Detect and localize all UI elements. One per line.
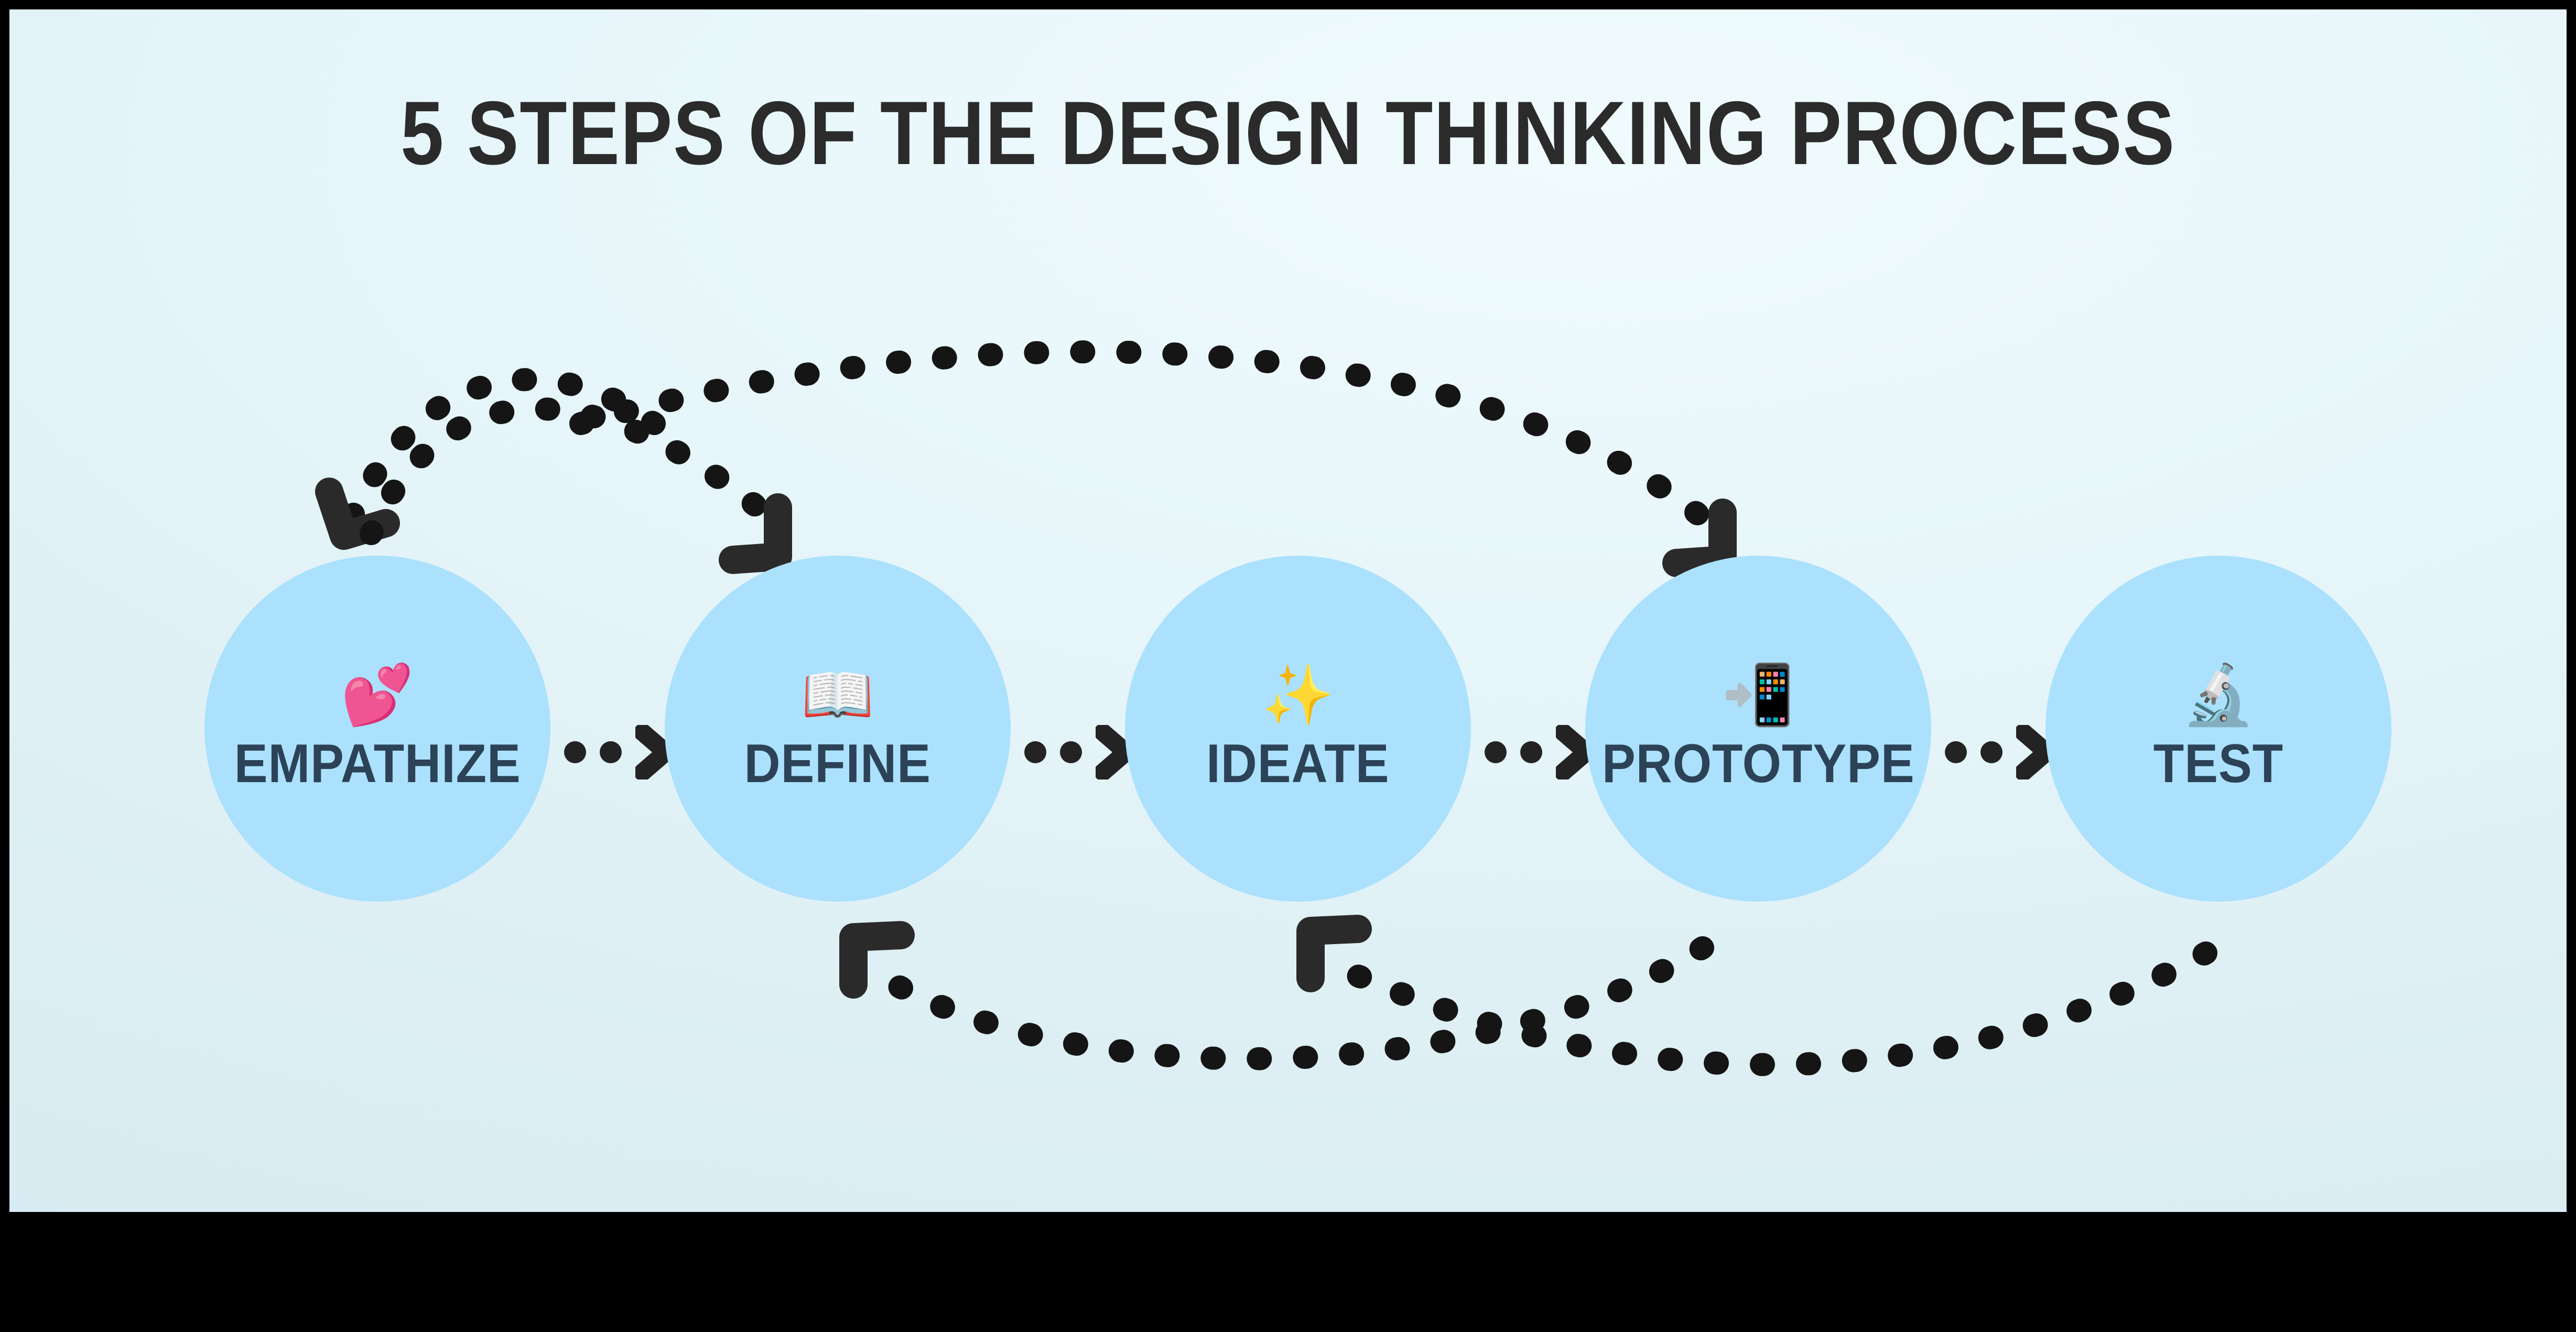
step-label-prototype: PROTOTYPE — [1602, 733, 1915, 795]
step-circle-define[interactable]: 📖 DEFINE — [665, 556, 1011, 902]
step-circle-ideate[interactable]: ✨ IDEATE — [1125, 556, 1471, 902]
arc-arrowhead-ideate-bottom — [1311, 929, 1358, 978]
connector-dot — [1945, 741, 1967, 763]
slide-canvas: 5 STEPS OF THE DESIGN THINKING PROCESS .… — [9, 9, 2567, 1212]
arc-ideate-to-define — [869, 948, 1703, 1059]
connector-dot — [1980, 741, 2003, 763]
connector-dot — [1024, 741, 1046, 763]
connector-dot — [1485, 741, 1507, 763]
mobile-phone-with-arrow-icon: 📲 — [1722, 663, 1794, 728]
arc-arrowhead-empathize — [329, 492, 386, 536]
connector-ideate-prototype — [1485, 718, 1595, 786]
step-label-empathize: EMPATHIZE — [234, 733, 521, 795]
microscope-icon: 🔬 — [2182, 663, 2255, 728]
arc-arrowhead-define-top — [733, 507, 778, 560]
arc-empathize-to-define — [371, 409, 764, 534]
arc-define-to-empathize — [345, 380, 654, 534]
arc-empathize-to-prototype — [581, 352, 1703, 518]
connector-prototype-test — [1945, 718, 2055, 786]
connector-dot — [600, 741, 622, 763]
page-title: 5 STEPS OF THE DESIGN THINKING PROCESS — [188, 88, 2387, 178]
open-book-icon: 📖 — [801, 663, 874, 728]
step-label-test: TEST — [2153, 733, 2283, 795]
step-label-ideate: IDEATE — [1206, 733, 1389, 795]
arc-test-to-ideate — [1330, 953, 2206, 1065]
step-label-define: DEFINE — [744, 733, 931, 795]
sparkles-icon: ✨ — [1261, 663, 1334, 728]
connector-dot — [1520, 741, 1542, 763]
step-circle-test[interactable]: 🔬 TEST — [2045, 556, 2391, 902]
connector-define-ideate — [1024, 718, 1134, 786]
connector-dot — [1060, 741, 1082, 763]
step-circle-empathize[interactable]: 💕 EMPATHIZE — [204, 556, 550, 902]
connector-dot — [564, 741, 586, 763]
process-steps: 💕 EMPATHIZE 📖 DEFINE — [9, 556, 2567, 912]
two-hearts-icon: 💕 — [341, 663, 414, 728]
arc-arrowhead-define-bottom — [853, 935, 901, 984]
step-circle-prototype[interactable]: 📲 PROTOTYPE — [1585, 556, 1931, 902]
connector-empathize-define — [564, 718, 674, 786]
slide-frame: 5 STEPS OF THE DESIGN THINKING PROCESS .… — [0, 0, 2576, 1332]
